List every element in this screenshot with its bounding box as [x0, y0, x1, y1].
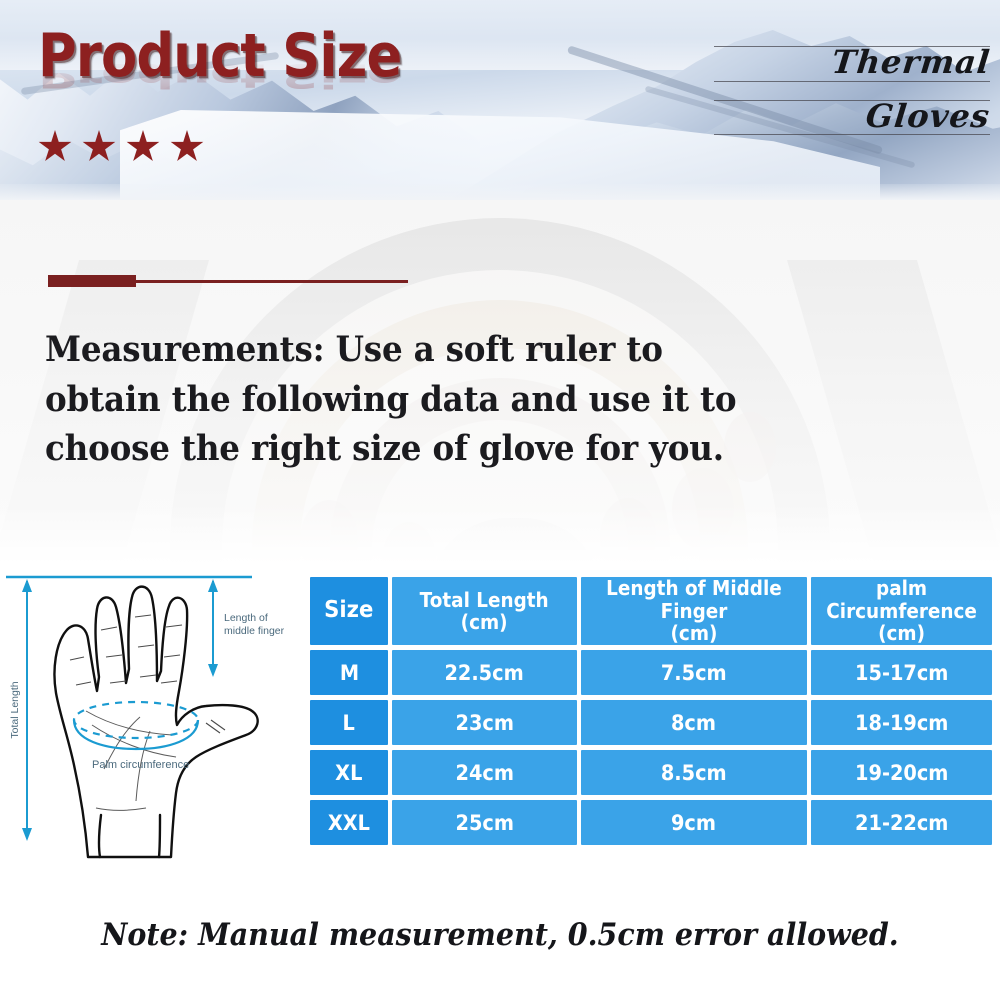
table-header-size-label: Size — [324, 598, 373, 624]
accent-rule — [134, 280, 408, 283]
middle-finger-label-line2: middle finger — [224, 625, 285, 637]
table-cell-palm-circumference: 21-22cm — [811, 800, 992, 845]
total-length-arrow-head-bottom — [22, 828, 32, 841]
table-header-middle-finger: Length of Middle Finger (cm) — [581, 577, 807, 645]
middle-finger-value: 8cm — [671, 711, 716, 735]
table-cell-palm-circumference: 18-19cm — [811, 700, 992, 745]
table-cell-palm-circumference: 15-17cm — [811, 650, 992, 695]
table-header-palm-line1: palm Circumference — [818, 577, 985, 622]
table-header-palm-line2: (cm) — [818, 622, 985, 644]
table-row: XL 24cm 8.5cm 19-20cm — [310, 750, 992, 795]
palm-circumference-value: 18-19cm — [855, 711, 948, 735]
table-cell-middle-finger: 8cm — [581, 700, 807, 745]
middle-finger-arrow-head-top — [208, 579, 218, 592]
product-size-infographic: Product Size Product Size Thermal Gloves — [0, 0, 1000, 1000]
size-value: L — [343, 711, 355, 735]
page-title-reflection: Product Size — [38, 59, 401, 92]
table-header-middle-finger-line2: (cm) — [590, 622, 798, 644]
table-cell-total-length: 24cm — [392, 750, 577, 795]
footer-note: Note: Manual measurement, 0.5cm error al… — [40, 917, 960, 953]
middle-finger-value: 8.5cm — [661, 761, 727, 785]
brand-block: Thermal Gloves — [690, 44, 990, 151]
total-length-value: 25cm — [455, 811, 513, 835]
middle-finger-label-line1: Length of — [224, 612, 268, 624]
palm-circumference-ellipse-solid — [74, 720, 198, 749]
table-header-total-length-line1: Total Length — [420, 589, 549, 611]
table-row: M 22.5cm 7.5cm 15-17cm — [310, 650, 992, 695]
banner-base-fade — [0, 184, 1000, 200]
total-length-value: 22.5cm — [445, 661, 524, 685]
table-row: L 23cm 8cm 18-19cm — [310, 700, 992, 745]
size-value: XXL — [328, 811, 370, 835]
table-cell-middle-finger: 9cm — [581, 800, 807, 845]
table-cell-total-length: 23cm — [392, 700, 577, 745]
table-header-total-length: Total Length (cm) — [392, 577, 577, 645]
table-cell-size: L — [310, 700, 388, 745]
table-header-size: Size — [310, 577, 388, 645]
middle-finger-arrow-head-bottom — [208, 664, 218, 677]
table-cell-palm-circumference: 19-20cm — [811, 750, 992, 795]
palm-circumference-value: 19-20cm — [855, 761, 948, 785]
star-icon — [170, 130, 204, 164]
hand-measurement-diagram: Total Length Length of middle finger — [0, 565, 300, 865]
star-rating — [38, 130, 204, 164]
middle-finger-value: 7.5cm — [661, 661, 727, 685]
measurements-text: Measurements: Use a soft ruler to obtain… — [45, 325, 761, 474]
table-header-row: Size Total Length (cm) Length of Middle … — [310, 577, 992, 645]
table-cell-total-length: 22.5cm — [392, 650, 577, 695]
brand-text-thermal: Thermal — [830, 46, 992, 80]
table-header-total-length-line2: (cm) — [420, 611, 549, 633]
table-header-middle-finger-line1: Length of Middle Finger — [590, 577, 798, 622]
total-length-value: 24cm — [455, 761, 513, 785]
palm-circumference-value: 15-17cm — [855, 661, 948, 685]
table-cell-middle-finger: 7.5cm — [581, 650, 807, 695]
total-length-arrow-head-top — [22, 579, 32, 592]
watermark-bottom-fade — [0, 505, 1000, 565]
palm-circumference-label: Palm circumference — [92, 759, 189, 771]
middle-finger-value: 9cm — [671, 811, 716, 835]
brand-text-gloves: Gloves — [864, 100, 991, 134]
size-chart-section: Total Length Length of middle finger — [0, 565, 1000, 1000]
star-icon — [126, 130, 160, 164]
size-table: Size Total Length (cm) Length of Middle … — [310, 577, 992, 850]
table-row: XXL 25cm 9cm 21-22cm — [310, 800, 992, 845]
table-cell-size: XXL — [310, 800, 388, 845]
size-value: XL — [335, 761, 362, 785]
table-header-palm-circumference: palm Circumference (cm) — [811, 577, 992, 645]
table-cell-size: M — [310, 650, 388, 695]
brand-line-thermal: Thermal — [690, 44, 990, 84]
star-icon — [38, 130, 72, 164]
table-cell-total-length: 25cm — [392, 800, 577, 845]
total-length-label: Total Length — [9, 681, 21, 738]
star-icon — [82, 130, 116, 164]
header-banner: Product Size Product Size Thermal Gloves — [0, 0, 1000, 200]
total-length-value: 23cm — [455, 711, 513, 735]
accent-bar — [48, 275, 136, 287]
brand-line-gloves: Gloves — [690, 98, 990, 138]
palm-circumference-value: 21-22cm — [855, 811, 948, 835]
size-value: M — [339, 661, 358, 685]
table-cell-size: XL — [310, 750, 388, 795]
table-cell-middle-finger: 8.5cm — [581, 750, 807, 795]
